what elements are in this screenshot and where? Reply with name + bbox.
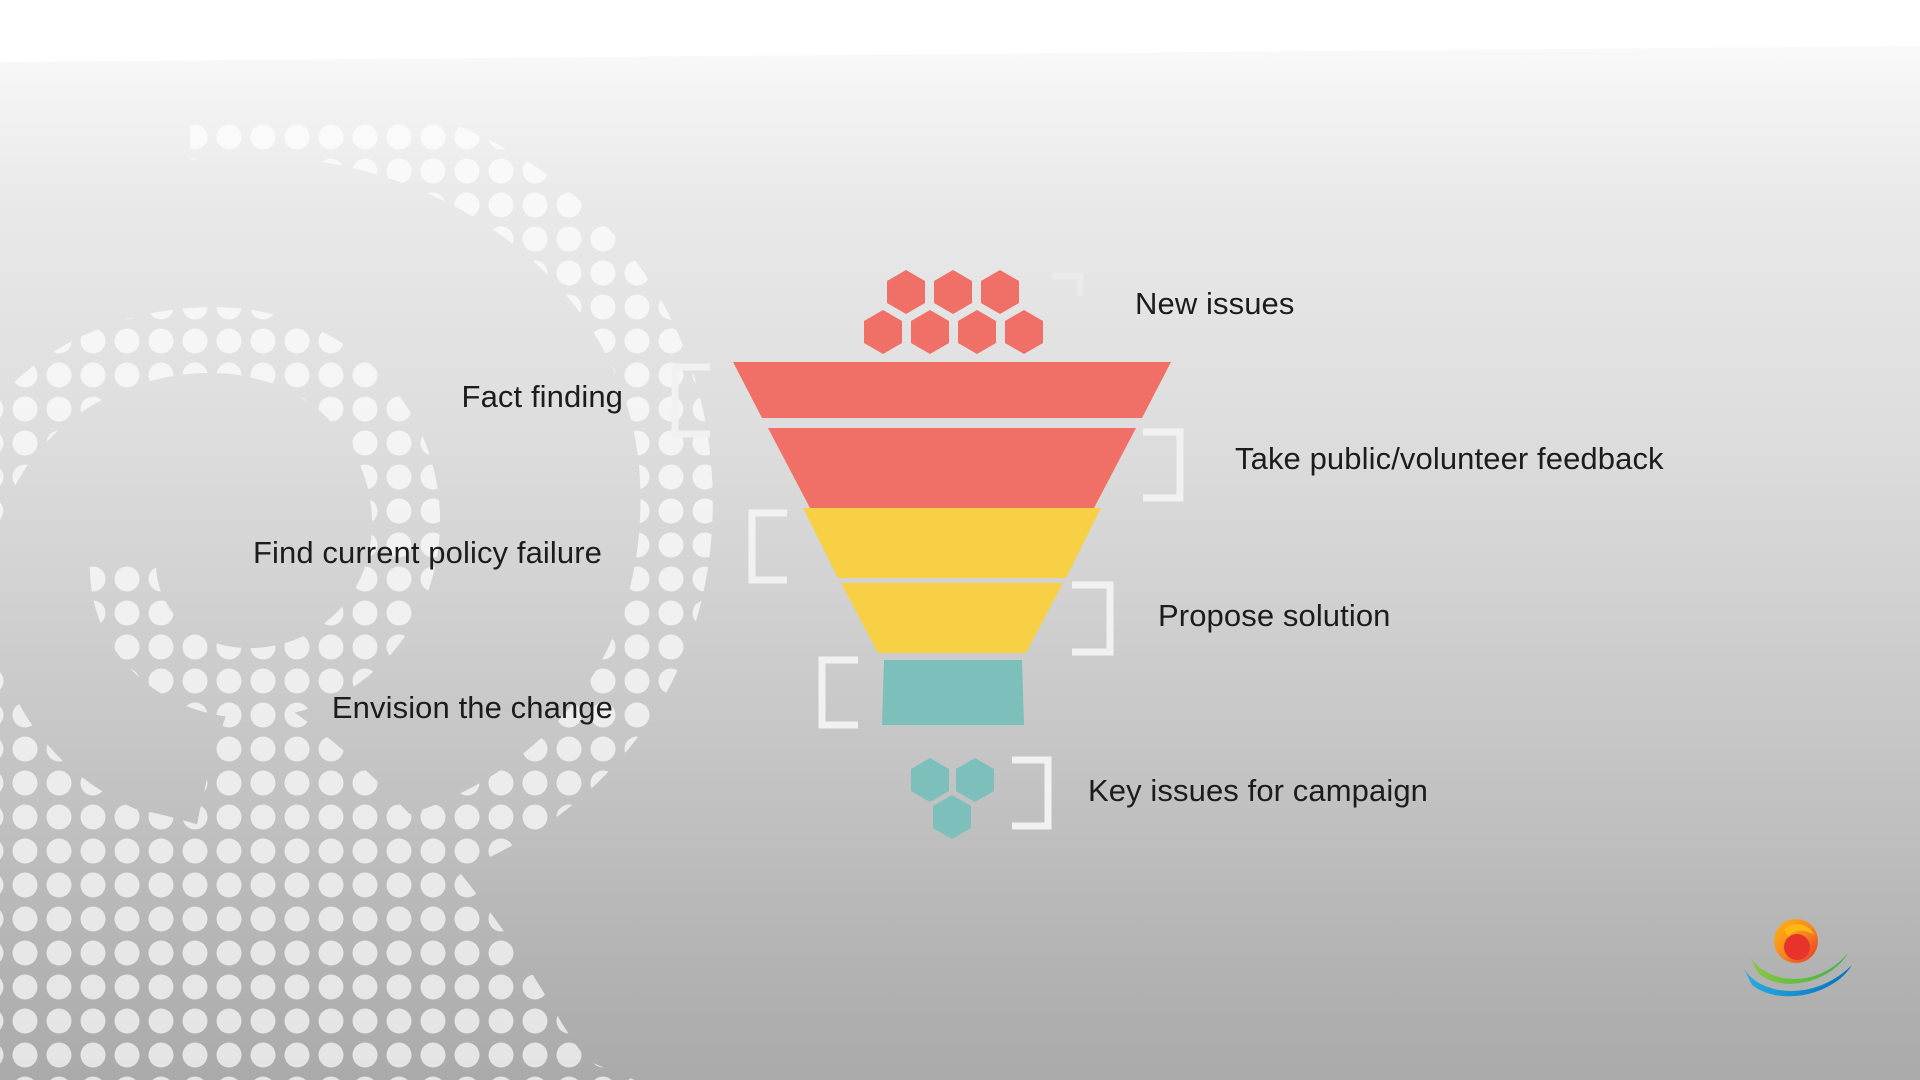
hexagon-cluster-top (864, 270, 1043, 354)
label-key-issues: Key issues for campaign (1088, 774, 1428, 808)
funnel-segment-1 (733, 362, 1171, 418)
funnel-segment-3 (803, 508, 1101, 578)
halftone-swirl-decoration (0, 120, 760, 1080)
label-new-issues: New issues (1135, 287, 1295, 321)
bracket-fact-finding (675, 367, 710, 434)
brand-logo (1740, 907, 1858, 1002)
funnel-segment-5 (882, 660, 1024, 725)
label-propose-solution: Propose solution (1158, 599, 1391, 633)
slide-canvas: New issues Fact finding Take public/volu… (0, 0, 1920, 1080)
label-take-feedback: Take public/volunteer feedback (1235, 442, 1664, 476)
label-fact-finding: Fact finding (462, 380, 623, 414)
funnel-segment-5-taper (884, 660, 1022, 672)
bracket-take-feedback (1143, 432, 1180, 498)
funnel-segment-2 (768, 428, 1136, 508)
bracket-envision-change (822, 660, 858, 725)
bracket-new-issues (1052, 276, 1080, 296)
bracket-propose-solution (1072, 585, 1110, 652)
label-envision-change: Envision the change (332, 691, 613, 725)
top-white-band (0, 0, 1920, 70)
logo-sphere (1774, 919, 1818, 963)
bracket-find-failure (752, 513, 787, 580)
bracket-key-issues (1012, 760, 1048, 826)
hexagon-cluster-bottom (911, 758, 994, 839)
funnel-segment-4 (841, 583, 1063, 653)
label-find-failure: Find current policy failure (253, 536, 602, 570)
